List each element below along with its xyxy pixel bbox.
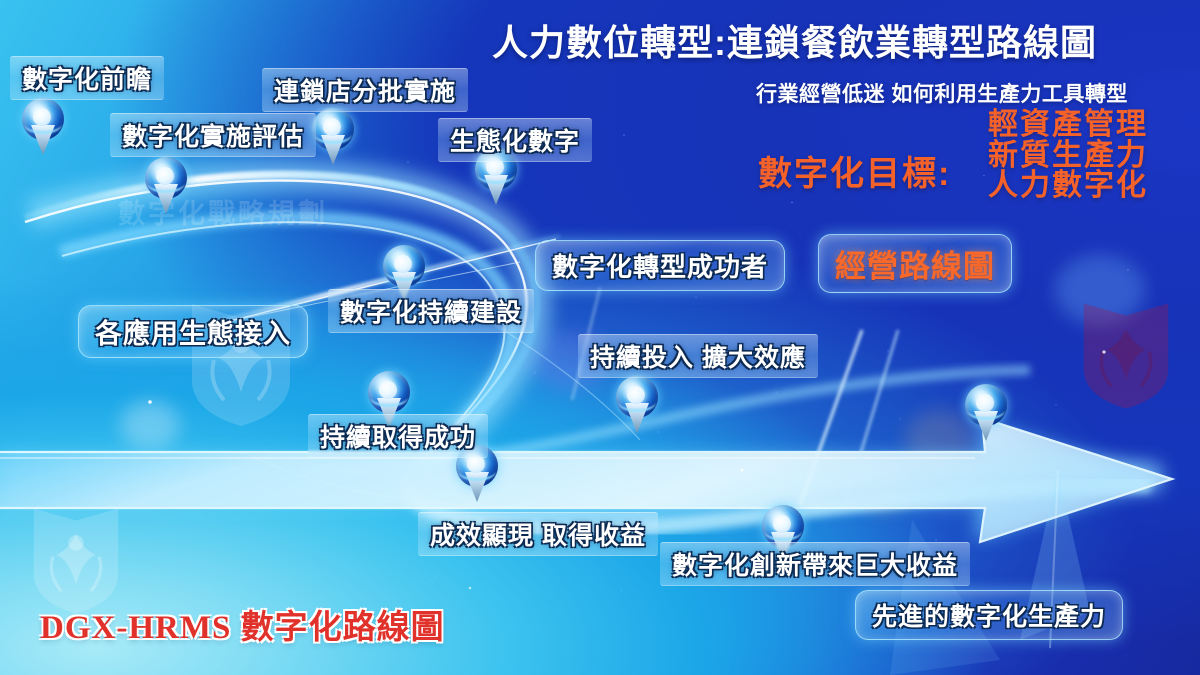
goal-item-1: 輕資產管理 [988,110,1148,141]
callout-advanced-productivity[interactable]: 先進的數字化生產力 [855,590,1123,640]
map-pin-icon[interactable] [614,376,660,434]
milestone-sustained-invest[interactable]: 持續投入 擴大效應 [578,334,818,378]
map-pin-icon[interactable] [310,108,356,166]
milestone-assessment[interactable]: 數字化實施評估 [110,113,316,157]
callout-roadmap[interactable]: 經營路線圖 [818,234,1012,293]
watermark-shield-right [1080,300,1172,412]
milestone-label: 持續投入 擴大效應 [590,338,806,374]
page-title: 人力數位轉型:連鎖餐飲業轉型路線圖 [492,14,1097,66]
milestone-keep-winning[interactable]: 持續取得成功 [308,414,488,458]
digital-goal-label: 數字化目標: [758,146,951,195]
digital-goal-list: 輕資產管理 新質生產力 人力數字化 [988,110,1148,202]
map-pin-icon[interactable] [963,384,1009,442]
callout-label: 先進的數字化生產力 [872,597,1106,633]
goal-item-3: 人力數字化 [988,171,1148,202]
map-pin-icon[interactable] [143,157,189,215]
goal-item-2: 新質生產力 [988,141,1148,172]
milestone-label: 數字化持續建設 [340,293,522,329]
milestone-label: 數字化實施評估 [122,117,304,153]
milestone-label: 數字化前瞻 [22,60,152,96]
milestone-label: 連鎖店分批實施 [274,72,456,108]
milestone-label: 數字化創新帶來巨大收益 [672,546,958,582]
milestone-label: 成效顯現 取得收益 [430,516,646,552]
page-subtitle: 行業經營低迷 如何利用生產力工具轉型 [756,78,1128,108]
callout-label: 數字化轉型成功者 [552,247,768,284]
lens-flare-left [120,400,180,450]
callout-label: 各應用生態接入 [95,312,291,351]
milestone-batch-rollout[interactable]: 連鎖店分批實施 [262,68,468,112]
callout-label: 經營路線圖 [835,241,995,286]
bokeh-glow-c [860,470,906,510]
milestone-innovation-gains[interactable]: 數字化創新帶來巨大收益 [660,542,970,586]
milestone-foresight[interactable]: 數字化前瞻 [10,56,164,100]
milestone-results-gains[interactable]: 成效顯現 取得收益 [418,512,658,556]
infographic-canvas: 數字化戰略規劃 人力數位轉型:連鎖餐飲業轉型路線圖 行業經營低迷 如何利用生產力… [0,0,1200,675]
milestone-label: 持續取得成功 [320,418,476,454]
map-pin-icon[interactable] [20,98,66,156]
callout-success[interactable]: 數字化轉型成功者 [535,240,785,291]
callout-ecosystem-access[interactable]: 各應用生態接入 [78,305,308,358]
milestone-eco-digital[interactable]: 生態化數字 [438,118,592,162]
milestone-label: 生態化數字 [450,122,580,158]
milestone-continuous-build[interactable]: 數字化持續建設 [328,289,534,333]
brand-title: DGX-HRMS 數字化路線圖 [40,600,445,648]
bokeh-glow-a [1055,255,1145,325]
